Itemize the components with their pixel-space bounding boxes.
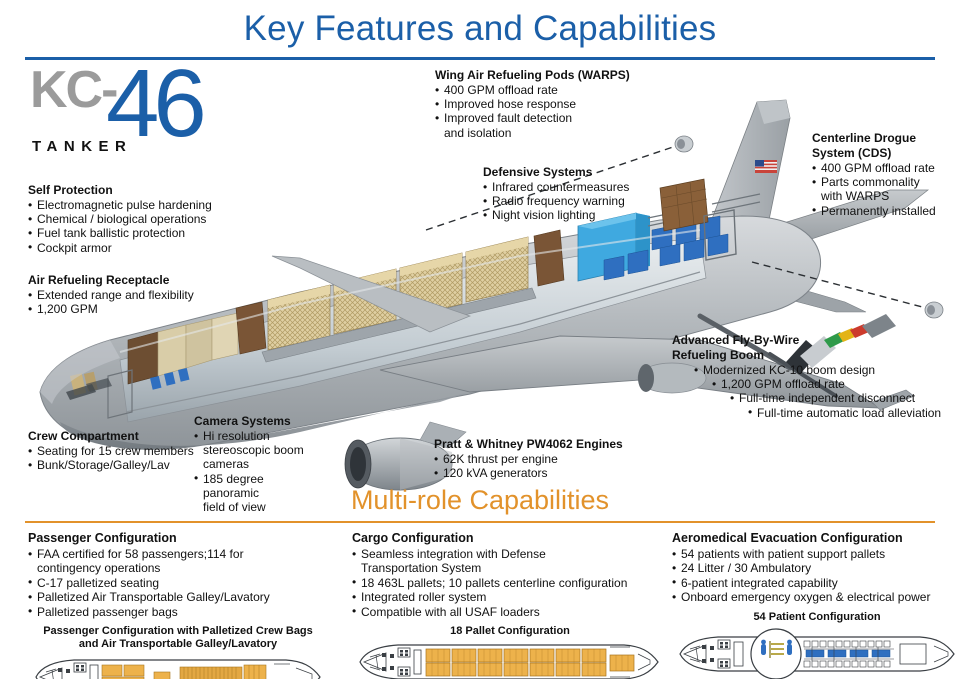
cargo-plan-view-diagram xyxy=(352,641,668,679)
callout-item: Extended range and flexibility xyxy=(28,288,258,302)
callout-heading: Wing Air Refueling Pods (WARPS) xyxy=(435,68,665,82)
panel-item-continuation: contingency operations xyxy=(28,561,328,575)
callout-heading-line2: Refueling Boom xyxy=(672,348,960,362)
panel-item: Onboard emergency oxygen & electrical po… xyxy=(672,590,960,604)
callout-item: 120 kVA generators xyxy=(434,466,674,480)
callout-list: 400 GPM offload rate Improved hose respo… xyxy=(435,83,665,140)
callout-item: Radio frequency warning xyxy=(483,194,693,208)
panel-item: 54 patients with patient support pallets xyxy=(672,547,960,561)
panel-item-continuation: Transportation System xyxy=(352,561,668,575)
callout-defensive-systems: Defensive Systems Infrared countermeasur… xyxy=(483,165,693,223)
callout-heading: Crew Compartment xyxy=(28,429,218,443)
callout-item: 400 GPM offload rate xyxy=(435,83,665,97)
callout-item: Electromagnetic pulse hardening xyxy=(28,198,258,212)
panel-item: Palletized Air Transportable Galley/Lava… xyxy=(28,590,328,604)
callout-heading: Camera Systems xyxy=(194,414,314,428)
aeromedical-plan-view-diagram xyxy=(672,628,960,679)
callout-pratt-whitney-engines: Pratt & Whitney PW4062 Engines 62K thrus… xyxy=(434,437,674,480)
panel-caption-above: 18 Pallet Configuration xyxy=(352,625,668,638)
callout-item: Improved hose response xyxy=(435,97,665,111)
panel-list: Seamless integration with Defense Transp… xyxy=(352,547,668,619)
callout-item-continuation: cameras xyxy=(194,457,314,471)
panel-heading: Passenger Configuration xyxy=(28,531,328,546)
callout-item: Fuel tank ballistic protection xyxy=(28,226,258,240)
callout-item: Cockpit armor xyxy=(28,241,258,255)
callout-item-continuation: stereoscopic boom xyxy=(194,443,314,457)
callout-item: Seating for 15 crew members xyxy=(28,444,218,458)
callout-item: Full-time automatic load alleviation xyxy=(748,406,960,420)
panel-item: 18 463L pallets; 10 pallets centerline c… xyxy=(352,576,668,590)
callout-advanced-fly-by-wire-refueling-boom: Advanced Fly-By-Wire Refueling Boom Mode… xyxy=(672,333,960,420)
callout-air-refueling-receptacle: Air Refueling Receptacle Extended range … xyxy=(28,273,258,316)
panel-item: Palletized passenger bags xyxy=(28,605,328,619)
callout-heading: Advanced Fly-By-Wire xyxy=(672,333,960,347)
callout-list: Seating for 15 crew members Bunk/Storage… xyxy=(28,444,218,472)
callout-list: Electromagnetic pulse hardening Chemical… xyxy=(28,198,258,255)
panel-cargo-configuration: Cargo Configuration Seamless integration… xyxy=(352,531,668,679)
callout-crew-compartment: Crew Compartment Seating for 15 crew mem… xyxy=(28,429,218,472)
callout-item: Chemical / biological operations xyxy=(28,212,258,226)
callout-list: Extended range and flexibility 1,200 GPM xyxy=(28,288,258,316)
panel-caption-above: 54 Patient Configuration xyxy=(672,611,960,624)
callout-item: 400 GPM offload rate xyxy=(812,161,960,175)
callout-item: Hi resolution xyxy=(194,429,314,443)
panel-passenger-configuration: Passenger Configuration FAA certified fo… xyxy=(28,531,328,679)
callout-heading: Self Protection xyxy=(28,183,258,197)
callout-wing-air-refueling-pods: Wing Air Refueling Pods (WARPS) 400 GPM … xyxy=(435,68,665,140)
callout-list: Infrared countermeasures Radio frequency… xyxy=(483,180,693,223)
section-title-multi-role: Multi-role Capabilities xyxy=(0,484,960,516)
callout-item: 1,200 GPM offload rate xyxy=(712,377,960,391)
infographic-page: Key Features and Capabilities KC- 46 TAN… xyxy=(0,0,960,679)
passenger-plan-view-diagram xyxy=(28,656,328,679)
panel-item: Integrated roller system xyxy=(352,590,668,604)
panel-list: 54 patients with patient support pallets… xyxy=(672,547,960,605)
callout-heading: Pratt & Whitney PW4062 Engines xyxy=(434,437,674,451)
callout-item: 62K thrust per engine xyxy=(434,452,674,466)
panel-heading: Aeromedical Evacuation Configuration xyxy=(672,531,960,546)
callout-item-continuation: with WARPS xyxy=(812,189,960,203)
callout-item: Permanently installed xyxy=(812,204,960,218)
callout-self-protection: Self Protection Electromagnetic pulse ha… xyxy=(28,183,258,255)
callout-heading: Defensive Systems xyxy=(483,165,693,179)
callout-list: 400 GPM offload rate Parts commonality w… xyxy=(812,161,960,218)
callout-item: Improved fault detection xyxy=(435,111,665,125)
panel-heading: Cargo Configuration xyxy=(352,531,668,546)
panel-item: FAA certified for 58 passengers;114 for xyxy=(28,547,328,561)
section-divider xyxy=(25,521,935,523)
callout-item-continuation: and isolation xyxy=(435,126,665,140)
callout-heading: Centerline Drogue xyxy=(812,131,960,145)
callout-list: 62K thrust per engine 120 kVA generators xyxy=(434,452,674,480)
callout-centerline-drogue-system: Centerline Drogue System (CDS) 400 GPM o… xyxy=(812,131,960,218)
callout-item: Full-time independent disconnect xyxy=(730,391,960,405)
panel-list: FAA certified for 58 passengers;114 for … xyxy=(28,547,328,619)
callout-item: Night vision lighting xyxy=(483,208,693,222)
callout-item: Bunk/Storage/Galley/Lav xyxy=(28,458,218,472)
panel-item: 6-patient integrated capability xyxy=(672,576,960,590)
panel-aeromedical-evacuation-configuration: Aeromedical Evacuation Configuration 54 … xyxy=(672,531,960,679)
us-flag-decal xyxy=(755,160,777,173)
callout-list: Modernized KC-10 boom design 1,200 GPM o… xyxy=(672,363,960,420)
panel-item: Seamless integration with Defense xyxy=(352,547,668,561)
callout-heading-line2: System (CDS) xyxy=(812,146,960,160)
panel-item: 24 Litter / 30 Ambulatory xyxy=(672,561,960,575)
callout-item: Parts commonality xyxy=(812,175,960,189)
panel-caption-above: Passenger Configuration with Palletized … xyxy=(28,625,328,651)
callout-item: 1,200 GPM xyxy=(28,302,258,316)
callout-heading: Air Refueling Receptacle xyxy=(28,273,258,287)
callout-item: Modernized KC-10 boom design xyxy=(694,363,960,377)
panel-item: Compatible with all USAF loaders xyxy=(352,605,668,619)
callout-item: Infrared countermeasures xyxy=(483,180,693,194)
panel-item: C-17 palletized seating xyxy=(28,576,328,590)
